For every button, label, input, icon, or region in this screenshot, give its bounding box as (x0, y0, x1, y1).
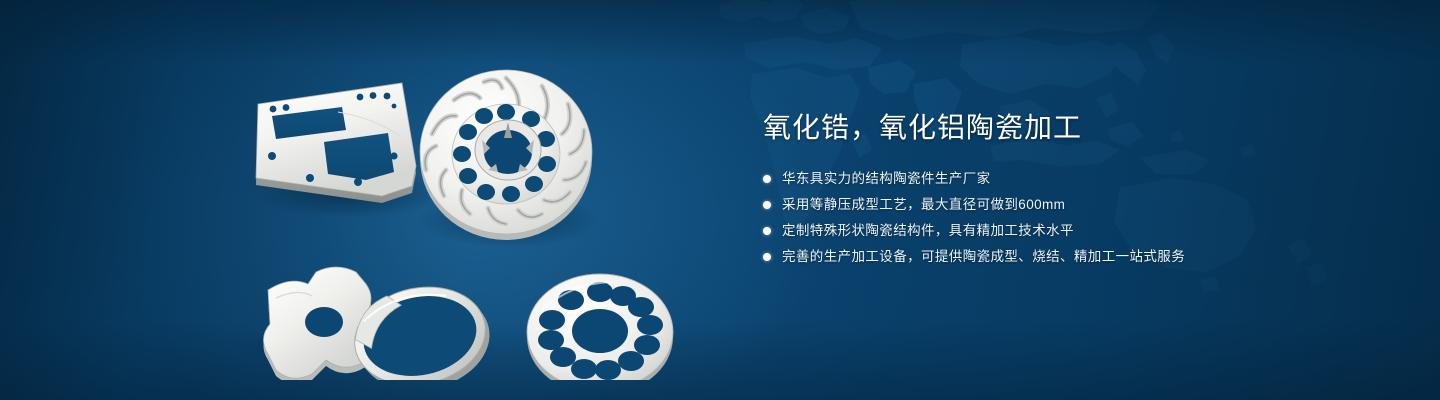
feature-text: 完善的生产加工设备，可提供陶瓷成型、烧结、精加工一站式服务 (782, 248, 1185, 266)
feature-text: 采用等静压成型工艺，最大直径可做到600mm (782, 196, 1065, 214)
ceramic-impeller (420, 70, 592, 240)
banner-copy: 氧化锆，氧化铝陶瓷加工 华东具实力的结构陶瓷件生产厂家 采用等静压成型工艺，最大… (763, 108, 1363, 274)
list-item: 华东具实力的结构陶瓷件生产厂家 (763, 170, 1363, 188)
product-photo-group (230, 40, 700, 380)
feature-list: 华东具实力的结构陶瓷件生产厂家 采用等静压成型工艺，最大直径可做到600mm 定… (763, 170, 1363, 266)
list-item: 定制特殊形状陶瓷结构件，具有精加工技术水平 (763, 222, 1363, 240)
bullet-dot-icon (763, 227, 771, 235)
list-item: 完善的生产加工设备，可提供陶瓷成型、烧结、精加工一站式服务 (763, 248, 1363, 266)
bullet-dot-icon (763, 253, 771, 261)
ceramic-plate (256, 83, 416, 203)
bullet-dot-icon (763, 201, 771, 209)
ceramic-hole-disc (527, 274, 673, 380)
page-title: 氧化锆，氧化铝陶瓷加工 (763, 108, 1363, 148)
feature-text: 华东具实力的结构陶瓷件生产厂家 (782, 170, 991, 188)
list-item: 采用等静压成型工艺，最大直径可做到600mm (763, 196, 1363, 214)
hero-banner: 氧化锆，氧化铝陶瓷加工 华东具实力的结构陶瓷件生产厂家 采用等静压成型工艺，最大… (0, 0, 1440, 400)
feature-text: 定制特殊形状陶瓷结构件，具有精加工技术水平 (782, 222, 1074, 240)
bullet-dot-icon (763, 175, 771, 183)
